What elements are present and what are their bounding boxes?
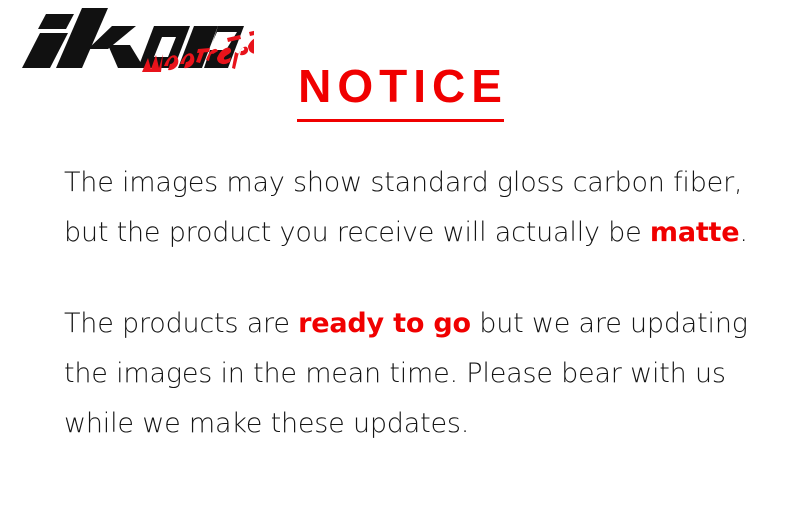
notice-page: ikon Motorsports NOTICE The images may s… <box>0 0 800 510</box>
notice-line: but the product you receive will actuall… <box>64 208 764 258</box>
notice-line: the images in the mean time. Please bear… <box>64 349 764 399</box>
text-run: but we are updating <box>471 308 748 339</box>
notice-paragraph: The products are ready to go but we are … <box>64 299 764 449</box>
notice-paragraph: The images may show standard gloss carbo… <box>64 158 764 258</box>
text-run: the images in the mean time. Please bear… <box>64 358 726 389</box>
text-run: The products are <box>64 308 298 339</box>
emphasized-text: matte <box>650 217 739 248</box>
notice-title: NOTICE <box>292 62 508 116</box>
text-run: . <box>739 217 747 248</box>
text-run: The images may show standard gloss carbo… <box>64 167 742 198</box>
notice-line: The products are ready to go but we are … <box>64 299 764 349</box>
notice-line: while we make these updates. <box>64 399 764 449</box>
text-run: but the product you receive will actuall… <box>64 217 650 248</box>
emphasized-text: ready to go <box>298 308 471 339</box>
notice-line: The images may show standard gloss carbo… <box>64 158 764 208</box>
notice-heading-block: NOTICE <box>0 62 800 122</box>
notice-title-underline <box>297 119 504 122</box>
notice-body: The images may show standard gloss carbo… <box>64 158 764 449</box>
text-run: while we make these updates. <box>64 408 469 439</box>
